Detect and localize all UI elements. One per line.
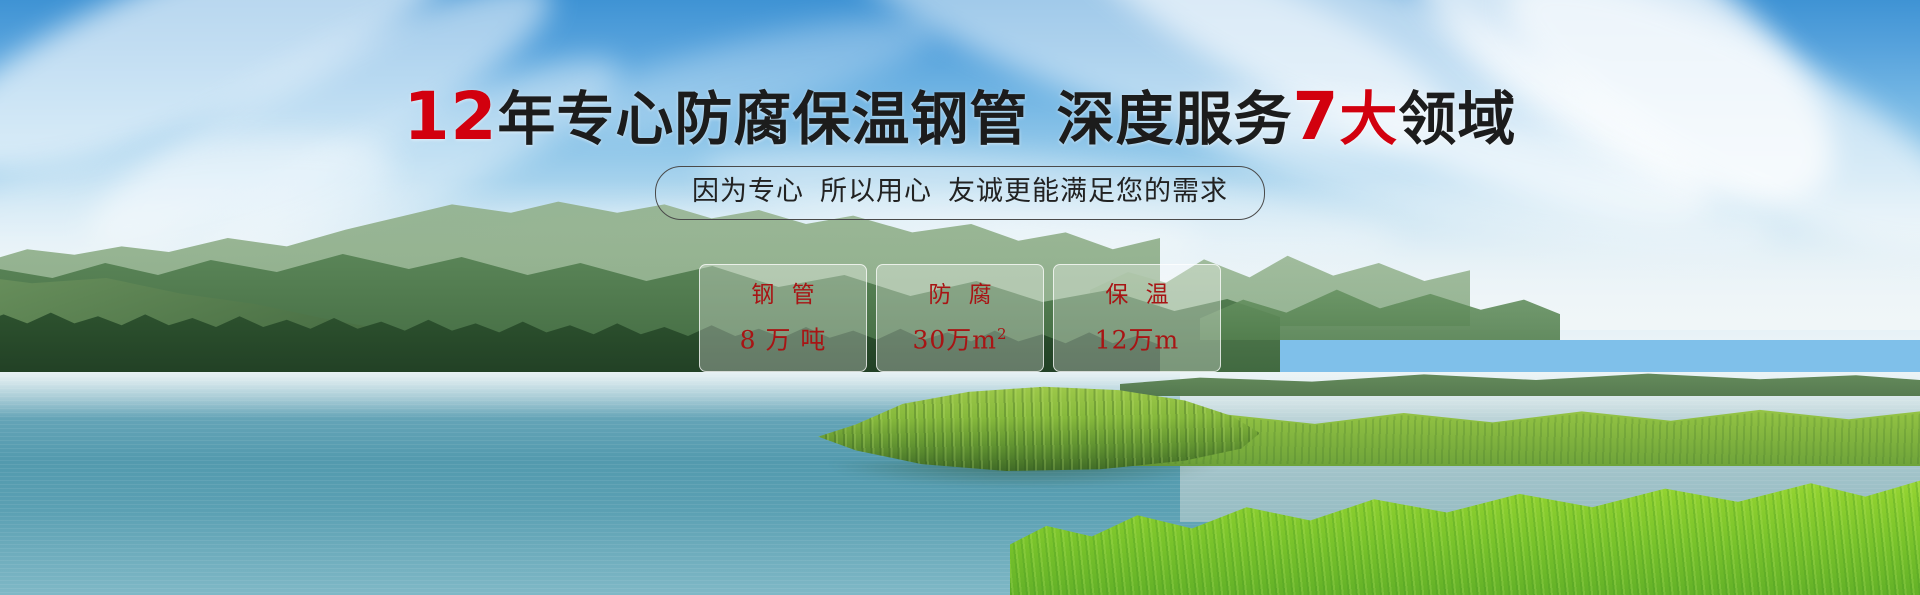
stat-card-value-text: 8 万 吨: [740, 325, 827, 354]
banner-subtitle-wrap: 因为专心所以用心友诚更能满足您的需求: [0, 166, 1920, 220]
subtitle-part-1: 因为专心: [692, 176, 804, 207]
stat-card-label: 保 温: [1100, 282, 1173, 308]
stat-card-value: 8 万 吨: [740, 320, 827, 354]
headline-text-da: 大: [1339, 85, 1398, 153]
stat-card-label: 防 腐: [923, 282, 996, 308]
banner-headline: 12年专心防腐保温钢管深度服务7大领域: [0, 86, 1920, 150]
stat-card-anticorrosion[interactable]: 防 腐 30万m2: [876, 264, 1044, 372]
banner-subtitle-pill: 因为专心所以用心友诚更能满足您的需求: [655, 166, 1265, 220]
headline-text-primary: 年专心防腐保温钢管: [497, 85, 1028, 153]
stat-card-value: 30万m2: [912, 320, 1007, 354]
headline-years-number: 12: [404, 78, 498, 155]
stat-card-group: 钢 管 8 万 吨 防 腐 30万m2 保 温 12万m: [0, 264, 1920, 372]
stat-card-value-text: 12万m: [1095, 325, 1180, 354]
stat-card-label: 钢 管: [746, 282, 819, 308]
subtitle-part-3: 友诚更能满足您的需求: [948, 176, 1228, 207]
stat-card-value-text: 30万m: [912, 325, 997, 354]
hero-banner: 12年专心防腐保温钢管深度服务7大领域 因为专心所以用心友诚更能满足您的需求 钢…: [0, 0, 1920, 595]
stat-card-value-sup: 2: [997, 325, 1008, 343]
stat-card-value: 12万m: [1095, 320, 1180, 354]
headline-text-secondary: 深度服务: [1056, 85, 1292, 153]
headline-text-fields: 领域: [1398, 85, 1516, 153]
subtitle-part-2: 所以用心: [820, 176, 932, 207]
stat-card-steel-pipe[interactable]: 钢 管 8 万 吨: [699, 264, 867, 372]
headline-fields-number: 7: [1292, 78, 1339, 155]
stat-card-insulation[interactable]: 保 温 12万m: [1053, 264, 1221, 372]
